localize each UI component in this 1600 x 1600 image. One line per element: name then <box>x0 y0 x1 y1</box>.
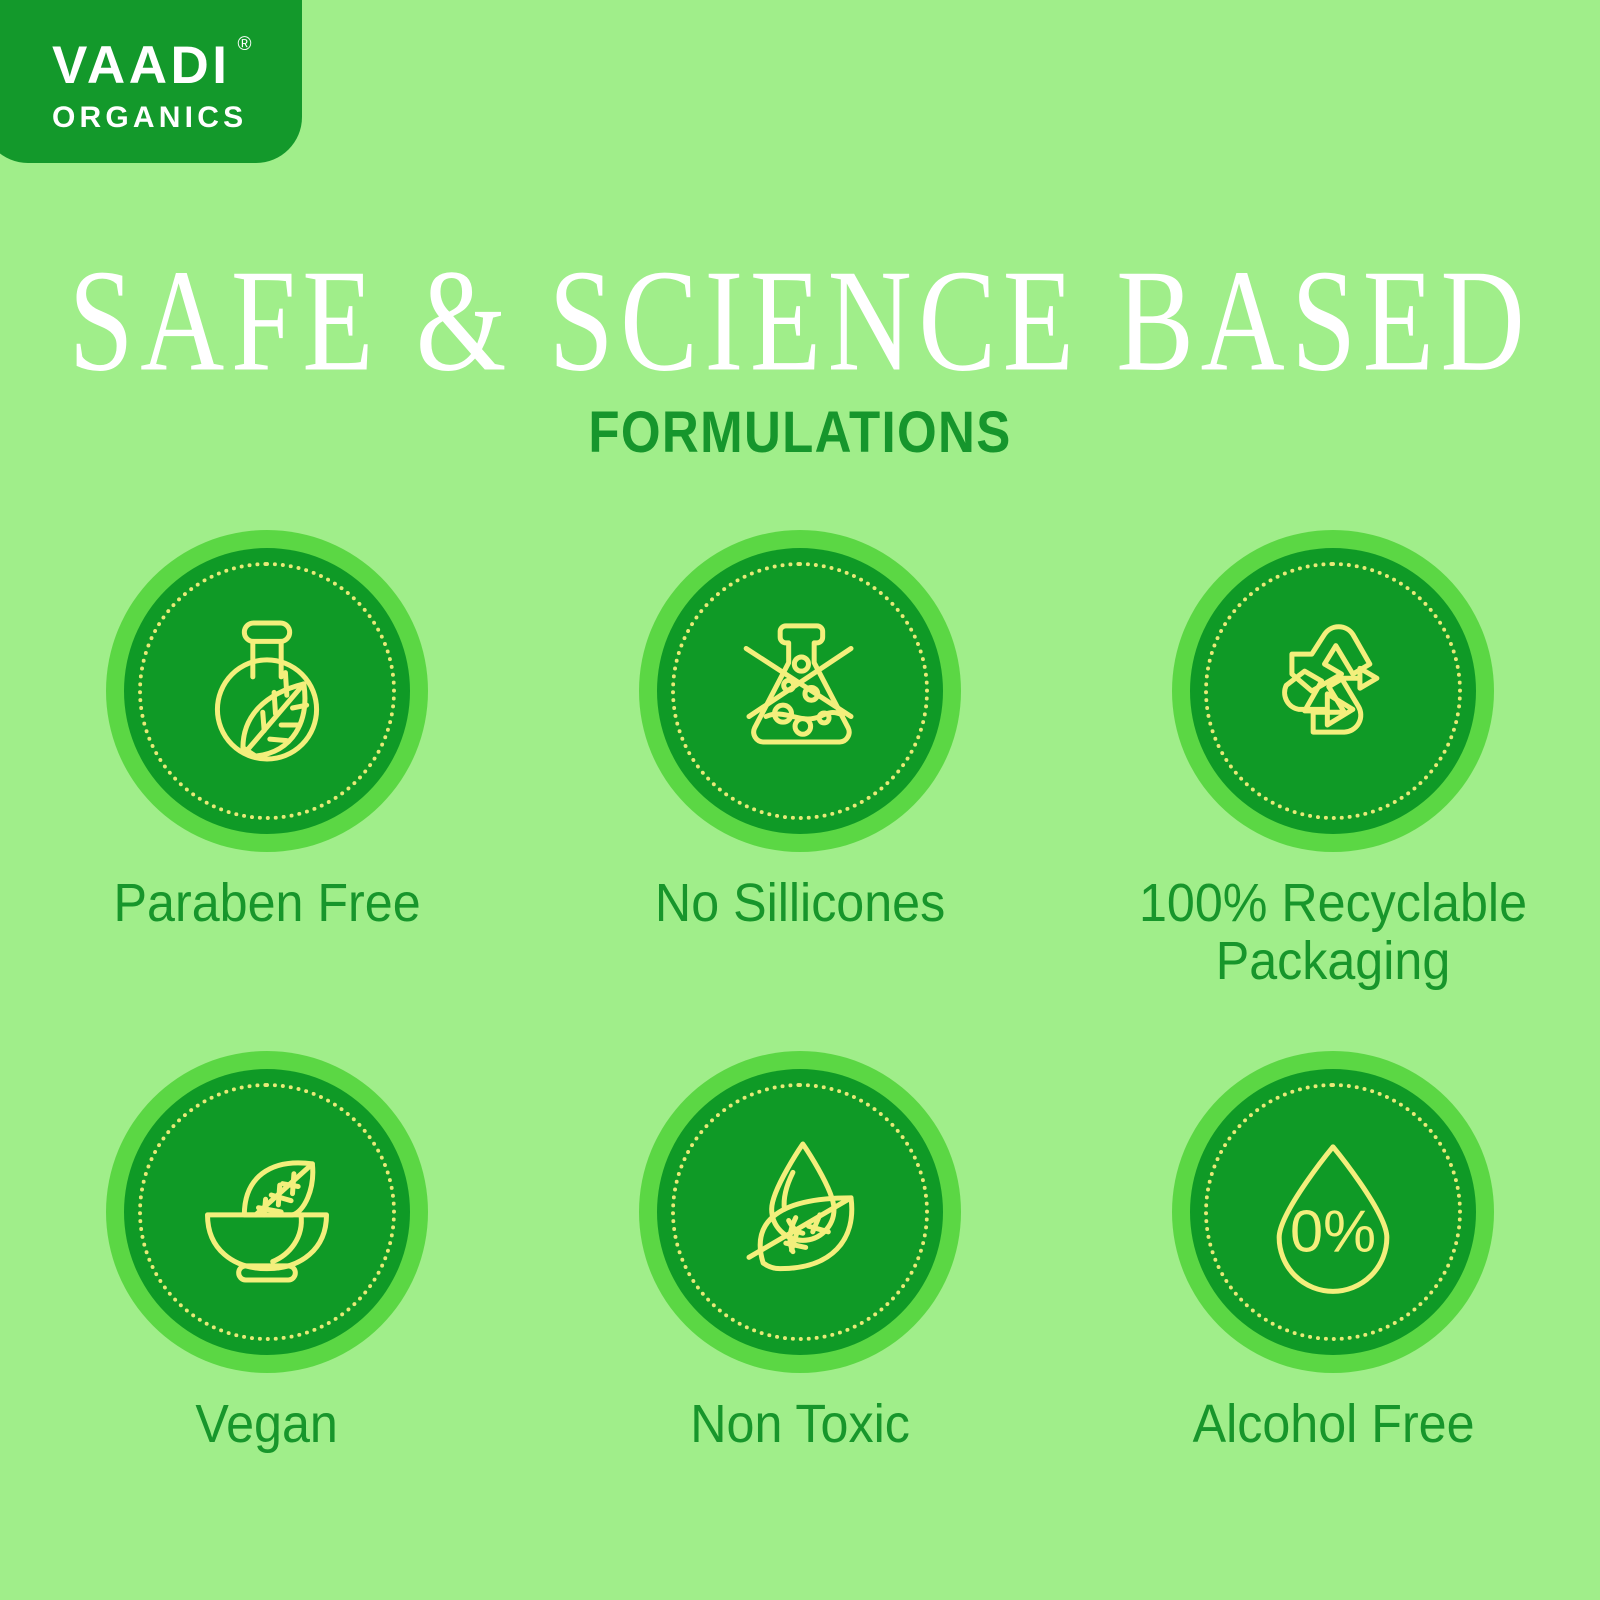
feature-item-non-toxic: Non Toxic <box>533 1051 1066 1453</box>
feature-item-paraben-free: Paraben Free <box>0 530 533 991</box>
page-headline: SAFE & SCIENCE BASED <box>48 248 1552 394</box>
feature-badge <box>106 530 428 852</box>
feature-item-vegan: Vegan <box>0 1051 533 1453</box>
feature-item-no-sillicones: No Sillicones <box>533 530 1066 991</box>
brand-name: VAADI® <box>52 39 230 92</box>
feature-label: No Sillicones <box>655 874 945 932</box>
droplet-value-text: 0% <box>1290 1197 1376 1264</box>
brand-logo-badge: VAADI® ORGANICS <box>0 0 302 163</box>
feature-badge-disc <box>124 548 410 834</box>
crossed-out-flask-icon <box>715 606 885 776</box>
feature-badge-disc <box>124 1069 410 1355</box>
droplet-zero-percent-icon: 0% <box>1248 1127 1418 1297</box>
feature-badge: 0% <box>1172 1051 1494 1373</box>
page-subheadline: FORMULATIONS <box>96 404 1504 462</box>
brand-tagline: ORGANICS <box>52 103 247 133</box>
feature-label: Vegan <box>195 1395 337 1453</box>
feature-badge <box>639 530 961 852</box>
bowl-with-leaf-icon <box>182 1127 352 1297</box>
feature-badge-disc <box>1190 548 1476 834</box>
feature-label: Alcohol Free <box>1192 1395 1474 1453</box>
feature-badge-disc <box>657 1069 943 1355</box>
flask-with-leaf-icon <box>182 606 352 776</box>
brand-name-text: VAADI <box>52 36 230 95</box>
droplet-on-leaf-icon <box>715 1127 885 1297</box>
feature-badge-disc: 0% <box>1190 1069 1476 1355</box>
feature-badge <box>1172 530 1494 852</box>
feature-badge <box>106 1051 428 1373</box>
feature-badge-disc <box>657 548 943 834</box>
feature-item-alcohol-free: 0% Alcohol Free <box>1067 1051 1600 1453</box>
feature-badge <box>639 1051 961 1373</box>
feature-item-recyclable-packaging: 100% Recyclable Packaging <box>1067 530 1600 991</box>
feature-label: Paraben Free <box>113 874 420 932</box>
feature-label: 100% Recyclable Packaging <box>1133 874 1533 991</box>
feature-label: Non Toxic <box>690 1395 910 1453</box>
recycling-arrows-icon <box>1248 606 1418 776</box>
registered-trademark-icon: ® <box>237 35 251 54</box>
feature-grid: Paraben Free <box>0 530 1600 1453</box>
